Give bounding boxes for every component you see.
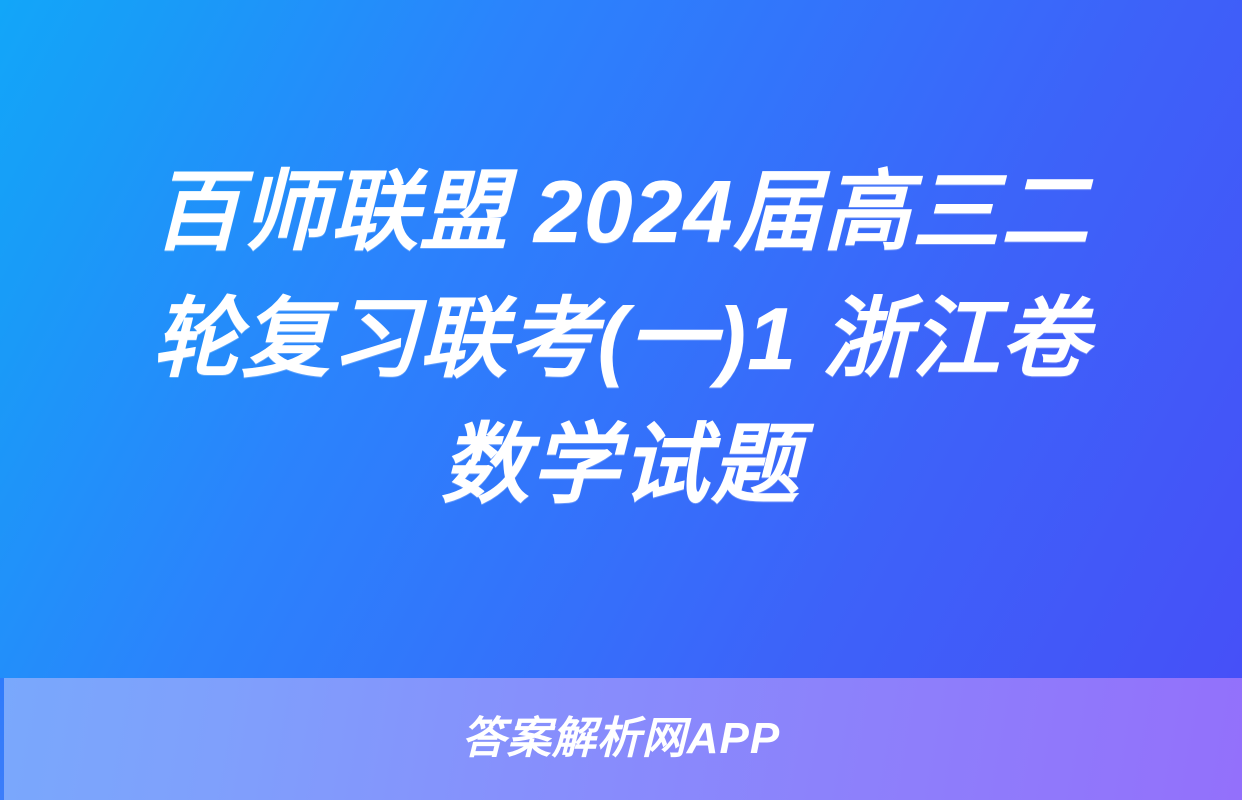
exam-cover-poster: 百师联盟 2024届高三二 轮复习联考(一)1 浙江卷 数学试题 答案解析网AP… — [0, 0, 1242, 800]
footer-left-edge-accent — [0, 678, 4, 800]
app-brand-label: 答案解析网APP — [462, 717, 780, 761]
title-line-1: 百师联盟 2024届高三二 — [54, 149, 1188, 276]
poster-title-block: 百师联盟 2024届高三二 轮复习联考(一)1 浙江卷 数学试题 — [0, 0, 1242, 678]
footer-branding-band: 答案解析网APP — [0, 678, 1242, 800]
title-line-2: 轮复习联考(一)1 浙江卷 — [54, 276, 1188, 403]
title-line-3: 数学试题 — [54, 402, 1188, 529]
